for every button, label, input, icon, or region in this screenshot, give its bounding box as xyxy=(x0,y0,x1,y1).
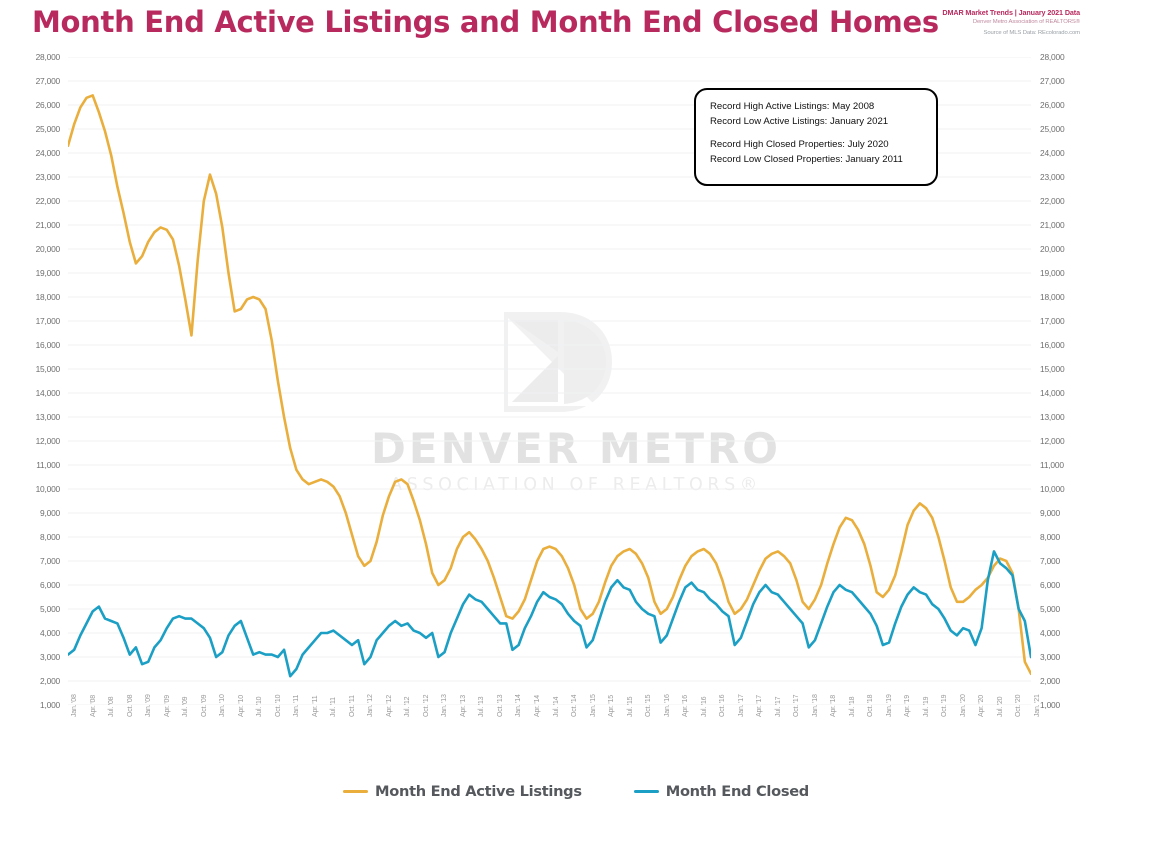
y-tick-label: 16,000 xyxy=(0,340,60,350)
y-tick-label: 14,000 xyxy=(1040,388,1064,398)
y-tick-label: 26,000 xyxy=(0,100,60,110)
x-tick-label: Oct. '16 xyxy=(719,695,726,717)
x-tick-label: Apr. '10 xyxy=(238,695,245,717)
y-tick-label: 10,000 xyxy=(0,484,60,494)
y-tick-label: 15,000 xyxy=(1040,364,1064,374)
y-tick-label: 3,000 xyxy=(0,652,60,662)
x-tick-label: Oct. '15 xyxy=(645,695,652,717)
y-tick-label: 22,000 xyxy=(0,196,60,206)
chart-page: Month End Active Listings and Month End … xyxy=(0,0,1152,847)
records-callout: Record High Active Listings: May 2008 Re… xyxy=(694,88,938,186)
x-tick-label: Jan. '19 xyxy=(886,694,893,717)
y-tick-label: 23,000 xyxy=(1040,172,1064,182)
x-tick-label: Jan. '20 xyxy=(960,694,967,717)
y-tick-label: 8,000 xyxy=(1040,532,1060,542)
y-tick-label: 9,000 xyxy=(1040,508,1060,518)
page-title: Month End Active Listings and Month End … xyxy=(32,5,939,39)
y-tick-label: 7,000 xyxy=(0,556,60,566)
y-tick-label: 10,000 xyxy=(1040,484,1064,494)
x-tick-label: Jan. '16 xyxy=(664,694,671,717)
y-tick-label: 8,000 xyxy=(0,532,60,542)
legend-item-active-listings[interactable]: Month End Active Listings xyxy=(343,783,582,800)
x-tick-label: Jan. '12 xyxy=(367,694,374,717)
y-tick-label: 18,000 xyxy=(0,292,60,302)
y-tick-label: 18,000 xyxy=(1040,292,1064,302)
x-tick-label: Apr. '12 xyxy=(386,695,393,717)
x-tick-label: Oct. '10 xyxy=(275,695,282,717)
y-tick-label: 12,000 xyxy=(0,436,60,446)
y-tick-label: 1,000 xyxy=(1040,700,1060,710)
y-tick-label: 17,000 xyxy=(0,316,60,326)
x-tick-label: Jul. '09 xyxy=(182,697,189,717)
x-tick-label: Jan. '17 xyxy=(738,694,745,717)
x-tick-label: Jul. '14 xyxy=(553,697,560,717)
x-tick-label: Jan. '08 xyxy=(71,694,78,717)
y-tick-label: 28,000 xyxy=(0,52,60,62)
y-tick-label: 23,000 xyxy=(0,172,60,182)
x-tick-label: Jan. '14 xyxy=(515,694,522,717)
source-attribution: DMAR Market Trends | January 2021 Data D… xyxy=(942,8,1080,38)
x-tick-label: Oct. '18 xyxy=(867,695,874,717)
y-tick-label: 6,000 xyxy=(0,580,60,590)
x-tick-label: Oct. '14 xyxy=(571,695,578,717)
record-low-closed: Record Low Closed Properties: January 20… xyxy=(710,153,936,168)
x-tick-label: Jan. '18 xyxy=(812,694,819,717)
y-tick-label: 5,000 xyxy=(1040,604,1060,614)
legend-item-closed[interactable]: Month End Closed xyxy=(634,783,809,800)
y-tick-label: 25,000 xyxy=(1040,124,1064,134)
y-tick-label: 2,000 xyxy=(0,676,60,686)
record-high-active: Record High Active Listings: May 2008 xyxy=(710,100,936,115)
x-tick-label: Jul. '16 xyxy=(701,697,708,717)
legend-label-active-listings: Month End Active Listings xyxy=(375,783,582,800)
x-tick-label: Oct. '20 xyxy=(1015,695,1022,717)
x-tick-label: Apr. '17 xyxy=(756,695,763,717)
y-tick-label: 3,000 xyxy=(1040,652,1060,662)
chart-legend: Month End Active Listings Month End Clos… xyxy=(0,783,1152,800)
y-tick-label: 12,000 xyxy=(1040,436,1064,446)
x-tick-label: Jul. '15 xyxy=(627,697,634,717)
x-tick-label: Oct. '09 xyxy=(201,695,208,717)
y-tick-label: 14,000 xyxy=(0,388,60,398)
record-low-active: Record Low Active Listings: January 2021 xyxy=(710,115,936,130)
x-tick-label: Apr. '08 xyxy=(90,695,97,717)
y-tick-label: 13,000 xyxy=(1040,412,1064,422)
y-tick-label: 7,000 xyxy=(1040,556,1060,566)
x-tick-label: Oct. '17 xyxy=(793,695,800,717)
y-tick-label: 19,000 xyxy=(1040,268,1064,278)
record-high-closed: Record High Closed Properties: July 2020 xyxy=(710,138,936,153)
x-tick-label: Jul. '17 xyxy=(775,697,782,717)
y-tick-label: 13,000 xyxy=(0,412,60,422)
y-tick-label: 20,000 xyxy=(1040,244,1064,254)
x-tick-label: Jul. '12 xyxy=(404,697,411,717)
source-association: Denver Metro Association of REALTORS® xyxy=(942,18,1080,27)
y-tick-label: 21,000 xyxy=(1040,220,1064,230)
x-tick-label: Apr. '19 xyxy=(904,695,911,717)
x-tick-label: Jul. '10 xyxy=(256,697,263,717)
x-tick-label: Jul. '18 xyxy=(849,697,856,717)
x-tick-label: Oct. '12 xyxy=(423,695,430,717)
x-tick-label: Jan. '21 xyxy=(1034,694,1041,717)
x-tick-label: Jul. '13 xyxy=(478,697,485,717)
y-tick-label: 26,000 xyxy=(1040,100,1064,110)
x-tick-label: Apr. '11 xyxy=(312,696,319,717)
y-tick-label: 28,000 xyxy=(1040,52,1064,62)
y-tick-label: 4,000 xyxy=(1040,628,1060,638)
y-tick-label: 20,000 xyxy=(0,244,60,254)
y-tick-label: 17,000 xyxy=(1040,316,1064,326)
x-tick-label: Jan. '13 xyxy=(441,694,448,717)
y-tick-label: 9,000 xyxy=(0,508,60,518)
x-tick-label: Apr. '13 xyxy=(460,695,467,717)
y-tick-label: 11,000 xyxy=(0,460,60,470)
x-tick-label: Oct. '13 xyxy=(497,695,504,717)
x-tick-label: Apr. '16 xyxy=(682,695,689,717)
x-tick-label: Jan. '11 xyxy=(293,695,300,717)
legend-swatch-active-listings xyxy=(343,790,368,794)
x-tick-label: Oct. '19 xyxy=(941,695,948,717)
x-tick-label: Jul. '08 xyxy=(108,697,115,717)
y-tick-label: 25,000 xyxy=(0,124,60,134)
x-tick-label: Jan. '09 xyxy=(145,694,152,717)
source-mls-data: Source of MLS Data: REcolorado.com xyxy=(942,29,1080,38)
y-tick-label: 27,000 xyxy=(0,76,60,86)
y-tick-label: 11,000 xyxy=(1040,460,1064,470)
y-tick-label: 5,000 xyxy=(0,604,60,614)
x-tick-label: Oct. '08 xyxy=(127,695,134,717)
x-tick-label: Jul. '11 xyxy=(330,697,337,717)
y-tick-label: 24,000 xyxy=(0,148,60,158)
y-tick-label: 16,000 xyxy=(1040,340,1064,350)
x-tick-label: Apr. '14 xyxy=(534,695,541,717)
y-tick-label: 4,000 xyxy=(0,628,60,638)
x-tick-label: Jan. '15 xyxy=(590,694,597,717)
y-tick-label: 27,000 xyxy=(1040,76,1064,86)
x-tick-label: Oct. '11 xyxy=(349,695,356,717)
callout-spacer xyxy=(710,129,936,138)
y-tick-label: 21,000 xyxy=(0,220,60,230)
y-tick-label: 24,000 xyxy=(1040,148,1064,158)
legend-label-closed: Month End Closed xyxy=(666,783,809,800)
y-tick-label: 6,000 xyxy=(1040,580,1060,590)
y-tick-label: 15,000 xyxy=(0,364,60,374)
x-tick-label: Apr. '20 xyxy=(978,695,985,717)
x-tick-label: Jul. '19 xyxy=(923,697,930,717)
x-tick-label: Apr. '15 xyxy=(608,695,615,717)
x-tick-label: Apr. '09 xyxy=(164,695,171,717)
x-tick-label: Jul. '20 xyxy=(997,697,1004,717)
y-tick-label: 22,000 xyxy=(1040,196,1064,206)
y-tick-label: 19,000 xyxy=(0,268,60,278)
y-tick-label: 1,000 xyxy=(0,700,60,710)
x-tick-label: Jan. '10 xyxy=(219,694,226,717)
source-market-trends: DMAR Market Trends | January 2021 Data xyxy=(942,8,1080,18)
legend-swatch-closed xyxy=(634,790,659,794)
y-tick-label: 2,000 xyxy=(1040,676,1060,686)
x-tick-label: Apr. '18 xyxy=(830,695,837,717)
